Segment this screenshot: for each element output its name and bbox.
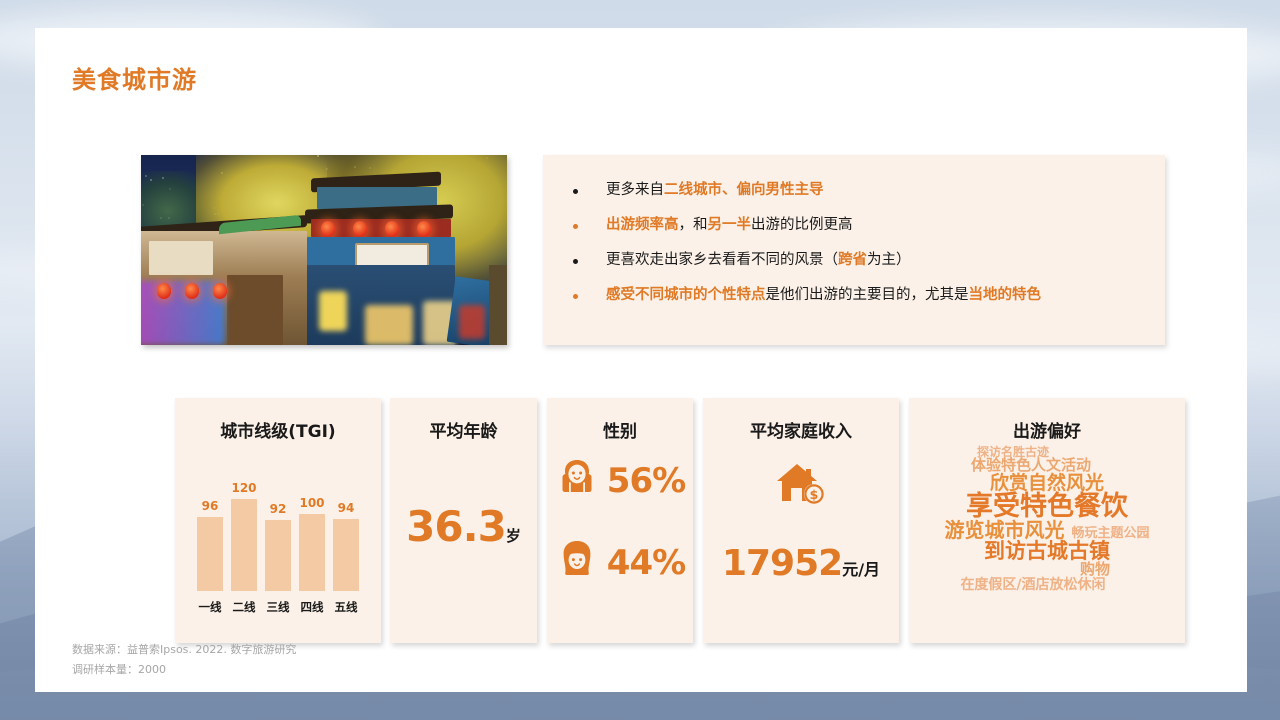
female-percentage: 44% xyxy=(607,543,685,583)
wordcloud-word: 欣赏自然风光 xyxy=(990,474,1104,493)
bar-category-label: 三线 xyxy=(265,599,291,615)
wordcloud-word: 到访古城古镇 xyxy=(984,541,1110,562)
card-average-age-title: 平均年龄 xyxy=(390,398,537,442)
city-night-photo xyxy=(141,155,507,345)
bar-chart: 961209210094 xyxy=(197,471,359,591)
slide-content-card: 美食城市游 xyxy=(35,28,1247,692)
gender-male-row: 56% xyxy=(547,456,693,505)
svg-text:$: $ xyxy=(810,487,819,502)
photo-lantern xyxy=(385,221,399,237)
travel-preference-wordcloud: 探访名胜古迹体验特色人文活动欣赏自然风光享受特色餐饮游览城市风光畅玩主题公园到访… xyxy=(917,446,1177,635)
slide-background: 美食城市游 xyxy=(0,0,1280,720)
wordcloud-row: 到访古城古镇 xyxy=(917,541,1177,562)
card-household-income-title: 平均家庭收入 xyxy=(703,398,899,442)
bar-rect xyxy=(265,520,291,591)
wordcloud-row: 享受特色餐饮 xyxy=(917,493,1177,521)
bullet-plain-text: 为主） xyxy=(867,252,911,268)
card-city-tier-title: 城市线级(TGI) xyxy=(175,398,381,442)
photo-window-glow xyxy=(319,291,347,331)
bullet-point-icon xyxy=(573,259,578,264)
bullet-text: 感受不同城市的个性特点是他们出游的主要目的，尤其是当地的特色 xyxy=(606,286,1041,304)
bar-value-label: 120 xyxy=(231,481,256,495)
bar-rect xyxy=(333,519,359,591)
bar-rect xyxy=(299,514,325,591)
average-age-value: 36.3 xyxy=(406,502,506,551)
photo-lantern xyxy=(417,221,431,237)
footnote-sample-size: 调研样本量：2000 xyxy=(72,660,296,680)
bullet-text: 更多来自二线城市、偏向男性主导 xyxy=(606,181,824,199)
male-percentage: 56% xyxy=(607,461,685,501)
card-gender-title: 性别 xyxy=(547,398,693,442)
household-income-value-wrap: 17952元/月 xyxy=(703,543,899,584)
household-income-value: 17952 xyxy=(722,543,842,584)
bullet-point-icon xyxy=(573,294,578,299)
bullet-highlight-text: 跨省 xyxy=(838,252,867,268)
photo-pillar-right xyxy=(489,265,507,345)
photo-lantern xyxy=(321,221,335,237)
insight-bullet-panel: 更多来自二线城市、偏向男性主导出游频率高，和另一半出游的比例更高更喜欢走出家乡去… xyxy=(543,155,1165,345)
hero-row: 更多来自二线城市、偏向男性主导出游频率高，和另一半出游的比例更高更喜欢走出家乡去… xyxy=(141,155,1165,345)
female-avatar-icon xyxy=(555,538,599,587)
bullet-item: 更多来自二线城市、偏向男性主导 xyxy=(565,181,1143,199)
card-gender[interactable]: 性别 56% xyxy=(547,398,693,643)
page-title: 美食城市游 xyxy=(72,60,197,95)
photo-door-left xyxy=(227,275,283,345)
bullet-plain-text: 出游的比例更高 xyxy=(751,217,853,233)
bullet-point-icon xyxy=(573,189,578,194)
average-age-value-wrap: 36.3岁 xyxy=(390,502,537,551)
bar-value-label: 94 xyxy=(338,501,355,515)
bar-item: 120 xyxy=(231,471,257,591)
bar-rect xyxy=(231,499,257,591)
bullet-item: 出游频率高，和另一半出游的比例更高 xyxy=(565,216,1143,234)
bar-chart-category-labels: 一线二线三线四线五线 xyxy=(197,599,359,615)
photo-wall-left xyxy=(149,241,213,275)
gender-female-row: 44% xyxy=(547,538,693,587)
wordcloud-word: 购物 xyxy=(1080,562,1110,577)
bar-value-label: 96 xyxy=(202,499,219,513)
card-travel-preference[interactable]: 出游偏好 探访名胜古迹体验特色人文活动欣赏自然风光享受特色餐饮游览城市风光畅玩主… xyxy=(909,398,1185,643)
photo-window-glow xyxy=(365,305,413,345)
wordcloud-row: 在度假区/酒店放松休闲 xyxy=(903,578,1163,592)
wordcloud-row: 购物 xyxy=(965,562,1225,577)
card-travel-preference-title: 出游偏好 xyxy=(909,398,1185,442)
wordcloud-row: 欣赏自然风光 xyxy=(917,474,1177,493)
bullet-plain-text: ，和 xyxy=(679,217,708,233)
household-income-unit: 元/月 xyxy=(842,560,880,579)
stat-cards-row: 城市线级(TGI) 961209210094 一线二线三线四线五线 平均年龄 3… xyxy=(175,398,1175,643)
bar-item: 92 xyxy=(265,471,291,591)
bullet-highlight-text: 当地的特色 xyxy=(969,287,1042,303)
house-with-coin-icon: $ xyxy=(773,460,829,513)
bar-value-label: 100 xyxy=(299,496,324,510)
photo-lantern xyxy=(157,283,171,299)
wordcloud-word: 在度假区/酒店放松休闲 xyxy=(960,578,1105,592)
bar-rect xyxy=(197,517,223,591)
photo-lantern xyxy=(185,283,199,299)
bullet-list: 更多来自二线城市、偏向男性主导出游频率高，和另一半出游的比例更高更喜欢走出家乡去… xyxy=(565,181,1143,305)
bar-category-label: 四线 xyxy=(299,599,325,615)
photo-lantern xyxy=(353,221,367,237)
wordcloud-row: 体验特色人文活动 xyxy=(901,458,1161,473)
footnote: 数据来源：益普索Ipsos. 2022. 数字旅游研究 调研样本量：2000 xyxy=(72,640,296,681)
bullet-plain-text: 是他们出游的主要目的，尤其是 xyxy=(766,287,969,303)
bullet-plain-text: 更多来自 xyxy=(606,182,664,198)
bullet-highlight-text: 出游频率高 xyxy=(606,217,679,233)
bar-item: 96 xyxy=(197,471,223,591)
bullet-text: 出游频率高，和另一半出游的比例更高 xyxy=(606,216,853,234)
photo-lantern xyxy=(213,283,227,299)
bullet-highlight-text: 感受不同城市的个性特点 xyxy=(606,287,766,303)
bar-category-label: 五线 xyxy=(333,599,359,615)
house-money-icon-wrap: $ xyxy=(703,460,899,513)
footnote-source: 数据来源：益普索Ipsos. 2022. 数字旅游研究 xyxy=(72,640,296,660)
bullet-text: 更喜欢走出家乡去看看不同的风景（跨省为主） xyxy=(606,251,911,269)
bullet-plain-text: 更喜欢走出家乡去看看不同的风景（ xyxy=(606,252,838,268)
wordcloud-word: 享受特色餐饮 xyxy=(966,493,1128,521)
bar-item: 100 xyxy=(299,471,325,591)
bar-item: 94 xyxy=(333,471,359,591)
bar-value-label: 92 xyxy=(270,502,287,516)
bar-category-label: 二线 xyxy=(231,599,257,615)
card-city-tier[interactable]: 城市线级(TGI) 961209210094 一线二线三线四线五线 xyxy=(175,398,381,643)
bullet-highlight-text: 二线城市、偏向男性主导 xyxy=(664,182,824,198)
photo-banner-glow xyxy=(459,305,485,339)
wordcloud-word: 体验特色人文活动 xyxy=(971,458,1091,473)
bullet-item: 更喜欢走出家乡去看看不同的风景（跨省为主） xyxy=(565,251,1143,269)
wordcloud-row: 游览城市风光畅玩主题公园 xyxy=(917,520,1177,540)
average-age-unit: 岁 xyxy=(506,527,521,545)
card-household-income[interactable]: 平均家庭收入 $ 17952元/月 xyxy=(703,398,899,643)
male-avatar-icon xyxy=(555,456,599,505)
wordcloud-word: 游览城市风光 xyxy=(944,520,1064,540)
bullet-highlight-text: 另一半 xyxy=(708,217,752,233)
bullet-point-icon xyxy=(573,224,578,229)
bullet-item: 感受不同城市的个性特点是他们出游的主要目的，尤其是当地的特色 xyxy=(565,286,1143,304)
card-average-age[interactable]: 平均年龄 36.3岁 xyxy=(390,398,537,643)
bar-category-label: 一线 xyxy=(197,599,223,615)
